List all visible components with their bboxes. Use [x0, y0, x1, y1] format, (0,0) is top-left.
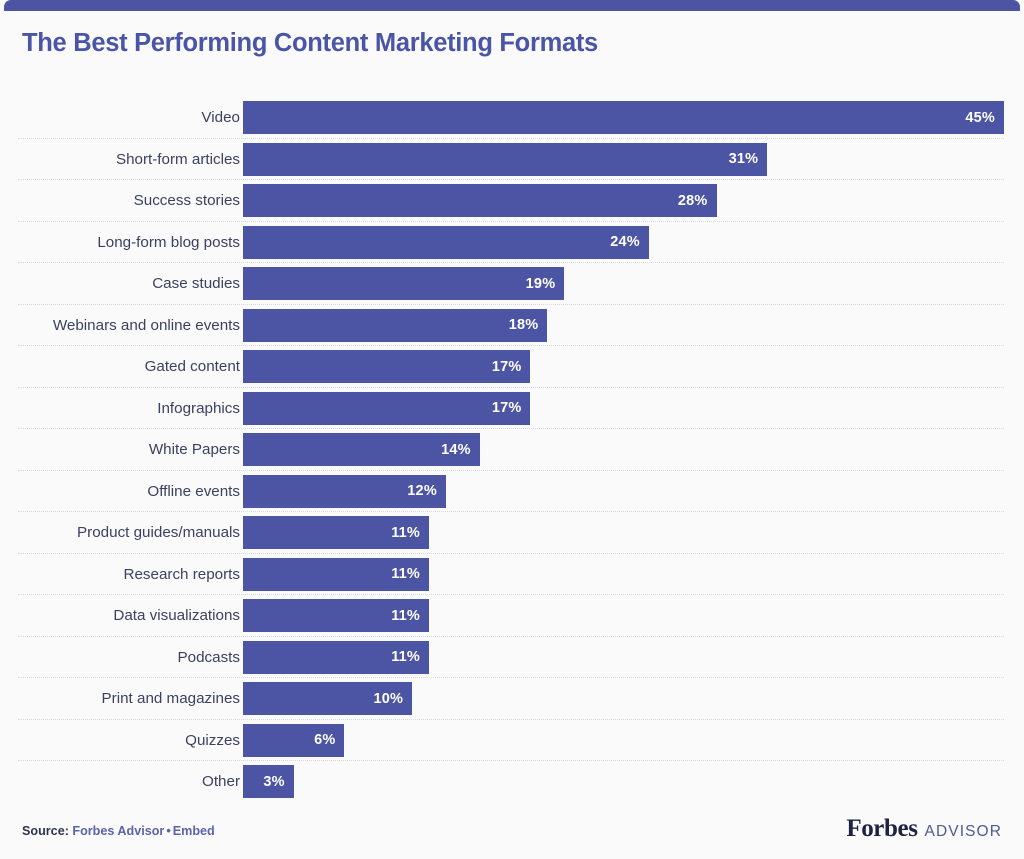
- bar-row: Success stories28%: [0, 180, 1024, 222]
- bar-value-label: 45%: [965, 110, 1004, 126]
- category-label: Research reports: [124, 554, 241, 596]
- bar-value-label: 18%: [509, 317, 548, 333]
- bar-row: Infographics17%: [0, 388, 1024, 430]
- bar-row: Webinars and online events18%: [0, 305, 1024, 347]
- category-label: Quizzes: [185, 720, 240, 762]
- category-label: Long-form blog posts: [97, 222, 240, 264]
- source-embed-link[interactable]: Embed: [173, 824, 215, 838]
- bar-track: 10%: [243, 682, 1004, 715]
- source-forbes-advisor-link[interactable]: Forbes Advisor: [72, 824, 164, 838]
- bar-row: Quizzes6%: [0, 720, 1024, 762]
- category-label: Product guides/manuals: [77, 512, 240, 554]
- category-label: Print and magazines: [102, 678, 240, 720]
- bar-track: 3%: [243, 765, 1004, 798]
- category-label: Infographics: [157, 388, 240, 430]
- bar-row: Video45%: [0, 97, 1024, 139]
- bar-row: Long-form blog posts24%: [0, 222, 1024, 264]
- bar-value-label: 11%: [391, 608, 429, 624]
- bar-value-label: 17%: [492, 359, 531, 375]
- source-label: Source:: [22, 824, 69, 838]
- bar-track: 31%: [243, 143, 1004, 176]
- bar[interactable]: 17%: [243, 350, 530, 383]
- forbes-wordmark: Forbes: [846, 815, 917, 843]
- bar[interactable]: 31%: [243, 143, 767, 176]
- bar-track: 17%: [243, 350, 1004, 383]
- bar[interactable]: 6%: [243, 724, 344, 757]
- bar-row: Other3%: [0, 761, 1024, 803]
- source-footer: Source: Forbes Advisor•Embed: [22, 824, 215, 838]
- category-label: Short-form articles: [116, 139, 240, 181]
- chart-card: The Best Performing Content Marketing Fo…: [0, 0, 1024, 859]
- category-label: Video: [201, 97, 240, 139]
- bar-track: 19%: [243, 267, 1004, 300]
- category-label: Success stories: [134, 180, 240, 222]
- bar-row: Gated content17%: [0, 346, 1024, 388]
- bar[interactable]: 19%: [243, 267, 564, 300]
- bar[interactable]: 24%: [243, 226, 649, 259]
- bar[interactable]: 45%: [243, 101, 1004, 134]
- bar-track: 24%: [243, 226, 1004, 259]
- category-label: Webinars and online events: [53, 305, 240, 347]
- bar[interactable]: 3%: [243, 765, 294, 798]
- bar-value-label: 6%: [314, 732, 344, 748]
- bar-track: 14%: [243, 433, 1004, 466]
- bar[interactable]: 11%: [243, 558, 429, 591]
- bar-chart-plot-area: Video45%Short-form articles31%Success st…: [0, 97, 1024, 803]
- bar[interactable]: 11%: [243, 516, 429, 549]
- bar-row: Data visualizations11%: [0, 595, 1024, 637]
- bar-track: 11%: [243, 599, 1004, 632]
- bar-row: White Papers14%: [0, 429, 1024, 471]
- bar-value-label: 10%: [373, 691, 412, 707]
- bar-row: Case studies19%: [0, 263, 1024, 305]
- bar-track: 12%: [243, 475, 1004, 508]
- bar-value-label: 11%: [391, 525, 429, 541]
- bar-value-label: 12%: [407, 483, 446, 499]
- source-separator: •: [164, 824, 172, 838]
- category-label: Other: [202, 761, 240, 803]
- bar[interactable]: 28%: [243, 184, 717, 217]
- bar[interactable]: 11%: [243, 599, 429, 632]
- bar-value-label: 14%: [441, 442, 480, 458]
- bar-track: 17%: [243, 392, 1004, 425]
- bar-track: 6%: [243, 724, 1004, 757]
- category-label: Case studies: [152, 263, 240, 305]
- bar-track: 18%: [243, 309, 1004, 342]
- category-label: Offline events: [147, 471, 240, 513]
- advisor-wordmark: ADVISOR: [925, 823, 1002, 841]
- category-label: Gated content: [145, 346, 240, 388]
- bar-value-label: 3%: [263, 774, 293, 790]
- bar-value-label: 24%: [610, 234, 649, 250]
- bar-value-label: 31%: [729, 151, 768, 167]
- bar[interactable]: 18%: [243, 309, 547, 342]
- category-label: Data visualizations: [113, 595, 240, 637]
- bar-value-label: 11%: [391, 649, 429, 665]
- category-label: Podcasts: [178, 637, 240, 679]
- bar[interactable]: 11%: [243, 641, 429, 674]
- bar-track: 45%: [243, 101, 1004, 134]
- bar[interactable]: 14%: [243, 433, 480, 466]
- bar[interactable]: 17%: [243, 392, 530, 425]
- forbes-advisor-logo: Forbes ADVISOR: [846, 815, 1002, 843]
- bar-row: Offline events12%: [0, 471, 1024, 513]
- bar-row: Short-form articles31%: [0, 139, 1024, 181]
- bar-row: Research reports11%: [0, 554, 1024, 596]
- bar-row: Podcasts11%: [0, 637, 1024, 679]
- bar-row: Product guides/manuals11%: [0, 512, 1024, 554]
- bar-value-label: 11%: [391, 566, 429, 582]
- bar-track: 28%: [243, 184, 1004, 217]
- category-label: White Papers: [149, 429, 240, 471]
- bar-row: Print and magazines10%: [0, 678, 1024, 720]
- bar-value-label: 17%: [492, 400, 531, 416]
- bar-value-label: 19%: [526, 276, 565, 292]
- bar-track: 11%: [243, 641, 1004, 674]
- bar[interactable]: 12%: [243, 475, 446, 508]
- bar-track: 11%: [243, 558, 1004, 591]
- chart-title: The Best Performing Content Marketing Fo…: [22, 29, 598, 58]
- top-accent-bar: [4, 0, 1020, 11]
- bar[interactable]: 10%: [243, 682, 412, 715]
- bar-track: 11%: [243, 516, 1004, 549]
- bar-value-label: 28%: [678, 193, 717, 209]
